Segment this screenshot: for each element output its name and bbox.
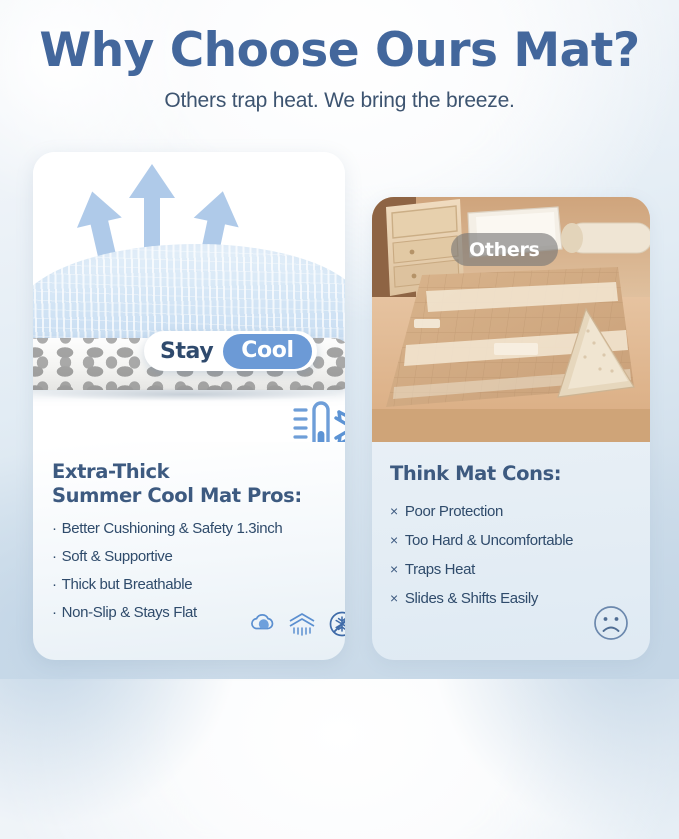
pros-item-label: Non-Slip & Stays Flat xyxy=(62,605,197,620)
pros-item-label: Better Cushioning & Safety 1.3inch xyxy=(62,521,283,536)
cross-icon: × xyxy=(390,504,398,518)
bullet-icon: · xyxy=(52,521,57,536)
list-item: · Soft & Supportive xyxy=(52,549,326,564)
cons-item-label: Traps Heat xyxy=(405,562,475,577)
list-item: × Too Hard & Uncomfortable xyxy=(390,533,632,548)
cool-label: Cool xyxy=(223,334,311,369)
bullet-icon: · xyxy=(52,605,57,620)
page-subtitle: Others trap heat. We bring the breeze. xyxy=(0,89,679,113)
header: Why Choose Ours Mat? Others trap heat. W… xyxy=(0,26,679,113)
feature-icons-row xyxy=(248,610,345,638)
cross-icon: × xyxy=(390,533,398,547)
pros-heading-line2: Summer Cool Mat Pros: xyxy=(52,484,326,508)
cross-icon: × xyxy=(390,562,398,576)
stay-cool-badge: Stay Cool xyxy=(144,331,317,371)
cloud-icon xyxy=(248,610,276,638)
list-item: · Thick but Breathable xyxy=(52,577,326,592)
pros-heading: Extra-Thick Summer Cool Mat Pros: xyxy=(52,460,326,509)
bullet-icon: · xyxy=(52,549,57,564)
card-others-mat: Others Think Mat Cons: × Poor Protection… xyxy=(372,197,650,660)
card-ours-mat: Stay Cool Extra-Thick Summer Cool Mat Pr… xyxy=(33,152,345,660)
others-label: Others xyxy=(469,239,540,261)
page-title: Why Choose Ours Mat? xyxy=(0,26,679,75)
stay-label: Stay xyxy=(160,339,213,364)
mat-care-label xyxy=(494,343,538,355)
cons-item-label: Poor Protection xyxy=(405,504,503,519)
thermometer-snowflake-icon xyxy=(289,398,345,442)
cross-icon: × xyxy=(390,591,398,605)
list-item: · Better Cushioning & Safety 1.3inch xyxy=(52,521,326,536)
sad-face-icon xyxy=(592,604,630,642)
others-badge: Others xyxy=(451,233,558,266)
cons-list: × Poor Protection × Too Hard & Uncomfort… xyxy=(390,504,632,606)
others-mat-object xyxy=(386,267,634,407)
snowflake-icon xyxy=(336,408,345,442)
bullet-icon: · xyxy=(52,577,57,592)
others-mat-hero-image: Others xyxy=(372,197,650,442)
list-item: × Traps Heat xyxy=(390,562,632,577)
list-item: × Poor Protection xyxy=(390,504,632,519)
pros-list: · Better Cushioning & Safety 1.3inch · S… xyxy=(52,521,326,620)
breathable-layers-icon xyxy=(287,610,317,638)
pros-item-label: Thick but Breathable xyxy=(62,577,193,592)
cons-item-label: Slides & Shifts Easily xyxy=(405,591,538,606)
pros-item-label: Soft & Supportive xyxy=(62,549,173,564)
cons-item-label: Too Hard & Uncomfortable xyxy=(405,533,573,548)
anti-mite-icon xyxy=(328,610,345,638)
cons-heading: Think Mat Cons: xyxy=(390,462,632,485)
pros-heading-line1: Extra-Thick xyxy=(52,460,326,484)
ours-mat-hero-image xyxy=(33,152,345,442)
